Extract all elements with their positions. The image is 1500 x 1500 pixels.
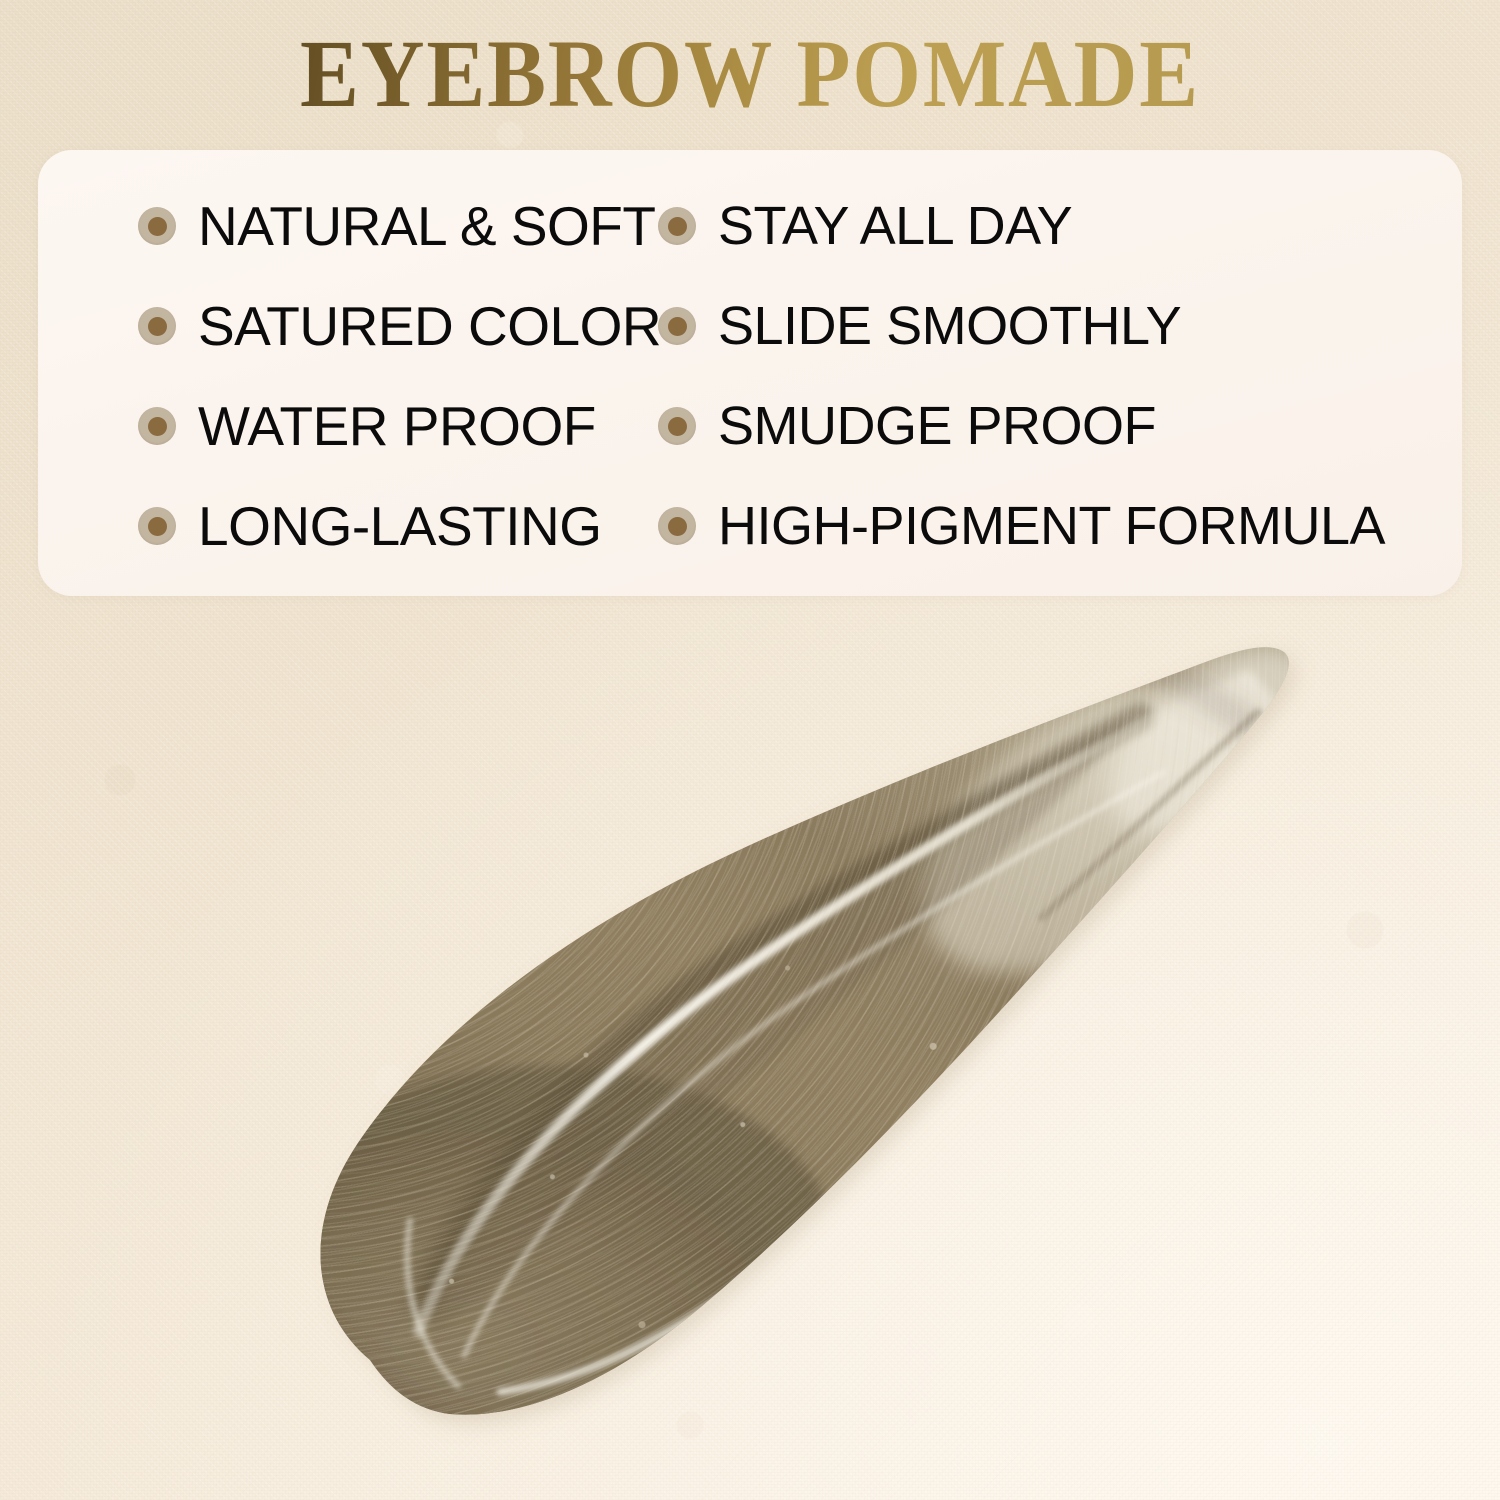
bullet-dot-icon: [138, 207, 176, 245]
bullet-dot-icon: [138, 407, 176, 445]
product-swatch-area: [0, 600, 1500, 1500]
feature-card: NATURAL & SOFT STAY ALL DAY SATURED COLO…: [38, 150, 1462, 596]
feature-item-water-proof: WATER PROOF: [38, 376, 638, 476]
bullet-dot-icon: [138, 307, 176, 345]
product-feature-image: EYEBROW POMADE NATURAL & SOFT STAY ALL D…: [0, 0, 1500, 1500]
pomade-swatch: [250, 620, 1370, 1490]
page-title: EYEBROW POMADE: [60, 26, 1440, 122]
bullet-dot-icon: [658, 207, 696, 245]
feature-label: STAY ALL DAY: [718, 199, 1072, 253]
bullet-dot-icon: [658, 507, 696, 545]
feature-grid: NATURAL & SOFT STAY ALL DAY SATURED COLO…: [38, 150, 1462, 596]
feature-item-slide-smoothly: SLIDE SMOOTHLY: [638, 276, 1462, 376]
bullet-dot-icon: [658, 307, 696, 345]
feature-item-high-pigment-formula: HIGH-PIGMENT FORMULA: [638, 476, 1462, 576]
bullet-dot-icon: [658, 407, 696, 445]
feature-label: SLIDE SMOOTHLY: [718, 299, 1181, 353]
feature-label: HIGH-PIGMENT FORMULA: [718, 499, 1385, 553]
feature-item-natural-and-soft: NATURAL & SOFT: [38, 176, 638, 276]
feature-item-satured-color: SATURED COLOR: [38, 276, 638, 376]
feature-label: LONG-LASTING: [198, 499, 602, 554]
feature-label: SMUDGE PROOF: [718, 399, 1156, 453]
feature-label: NATURAL & SOFT: [198, 199, 656, 254]
feature-label: WATER PROOF: [198, 399, 596, 454]
feature-item-stay-all-day: STAY ALL DAY: [638, 176, 1462, 276]
feature-label: SATURED COLOR: [198, 299, 661, 354]
bullet-dot-icon: [138, 507, 176, 545]
feature-item-smudge-proof: SMUDGE PROOF: [638, 376, 1462, 476]
feature-item-long-lasting: LONG-LASTING: [38, 476, 638, 576]
